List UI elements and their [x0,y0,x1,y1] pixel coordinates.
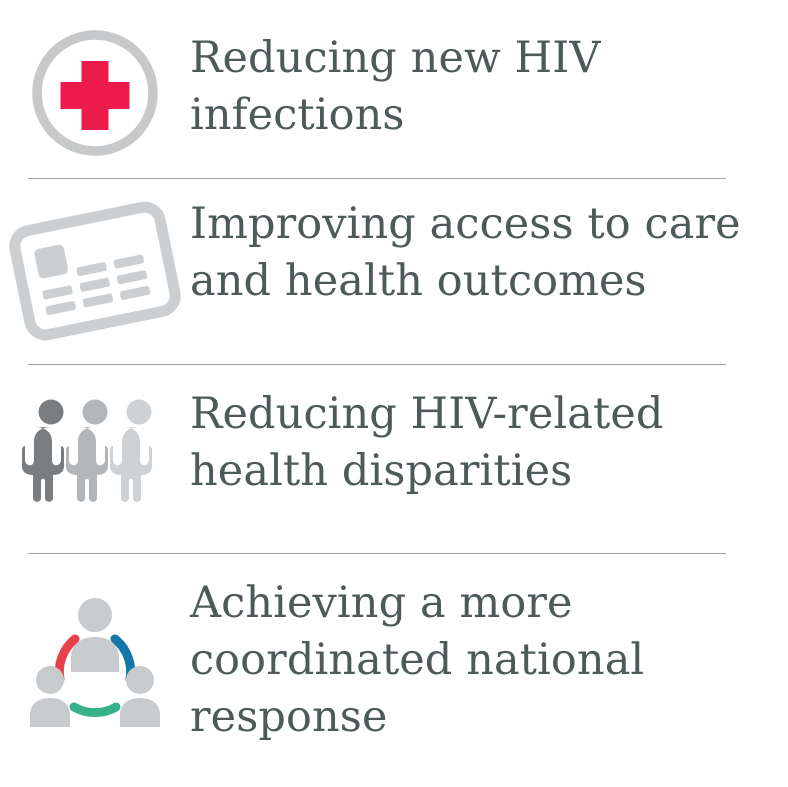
goal-label: Achieving a more coordinated national re… [190,569,788,747]
person-dark [22,400,64,502]
person-light [110,400,152,502]
id-card-icon [2,196,188,346]
coordinated-group-icon [20,583,170,733]
person-mid [66,400,108,502]
goals-list: Reducing new HIV infections [0,0,788,787]
goal-item-achieving-coordinated-national-response: Achieving a more coordinated national re… [0,553,788,787]
goal-item-improving-access-to-care: Improving access to care and health outc… [0,178,788,364]
goal-item-reducing-new-hiv-infections: Reducing new HIV infections [0,0,788,178]
goal-label: Improving access to care and health outc… [190,194,788,310]
goal-icon-cell [0,569,190,733]
goal-icon-cell [0,384,190,504]
goal-label: Reducing new HIV infections [190,22,788,144]
red-cross-in-circle-icon [28,26,162,160]
three-people-icon [20,398,170,504]
goal-icon-cell [0,22,190,160]
bust-top [71,598,119,672]
goal-item-reducing-hiv-related-health-disparities: Reducing HIV-related health disparities [0,364,788,553]
goal-label: Reducing HIV-related health disparities [190,384,788,500]
goal-icon-cell [0,194,190,346]
arc-green [74,707,116,713]
